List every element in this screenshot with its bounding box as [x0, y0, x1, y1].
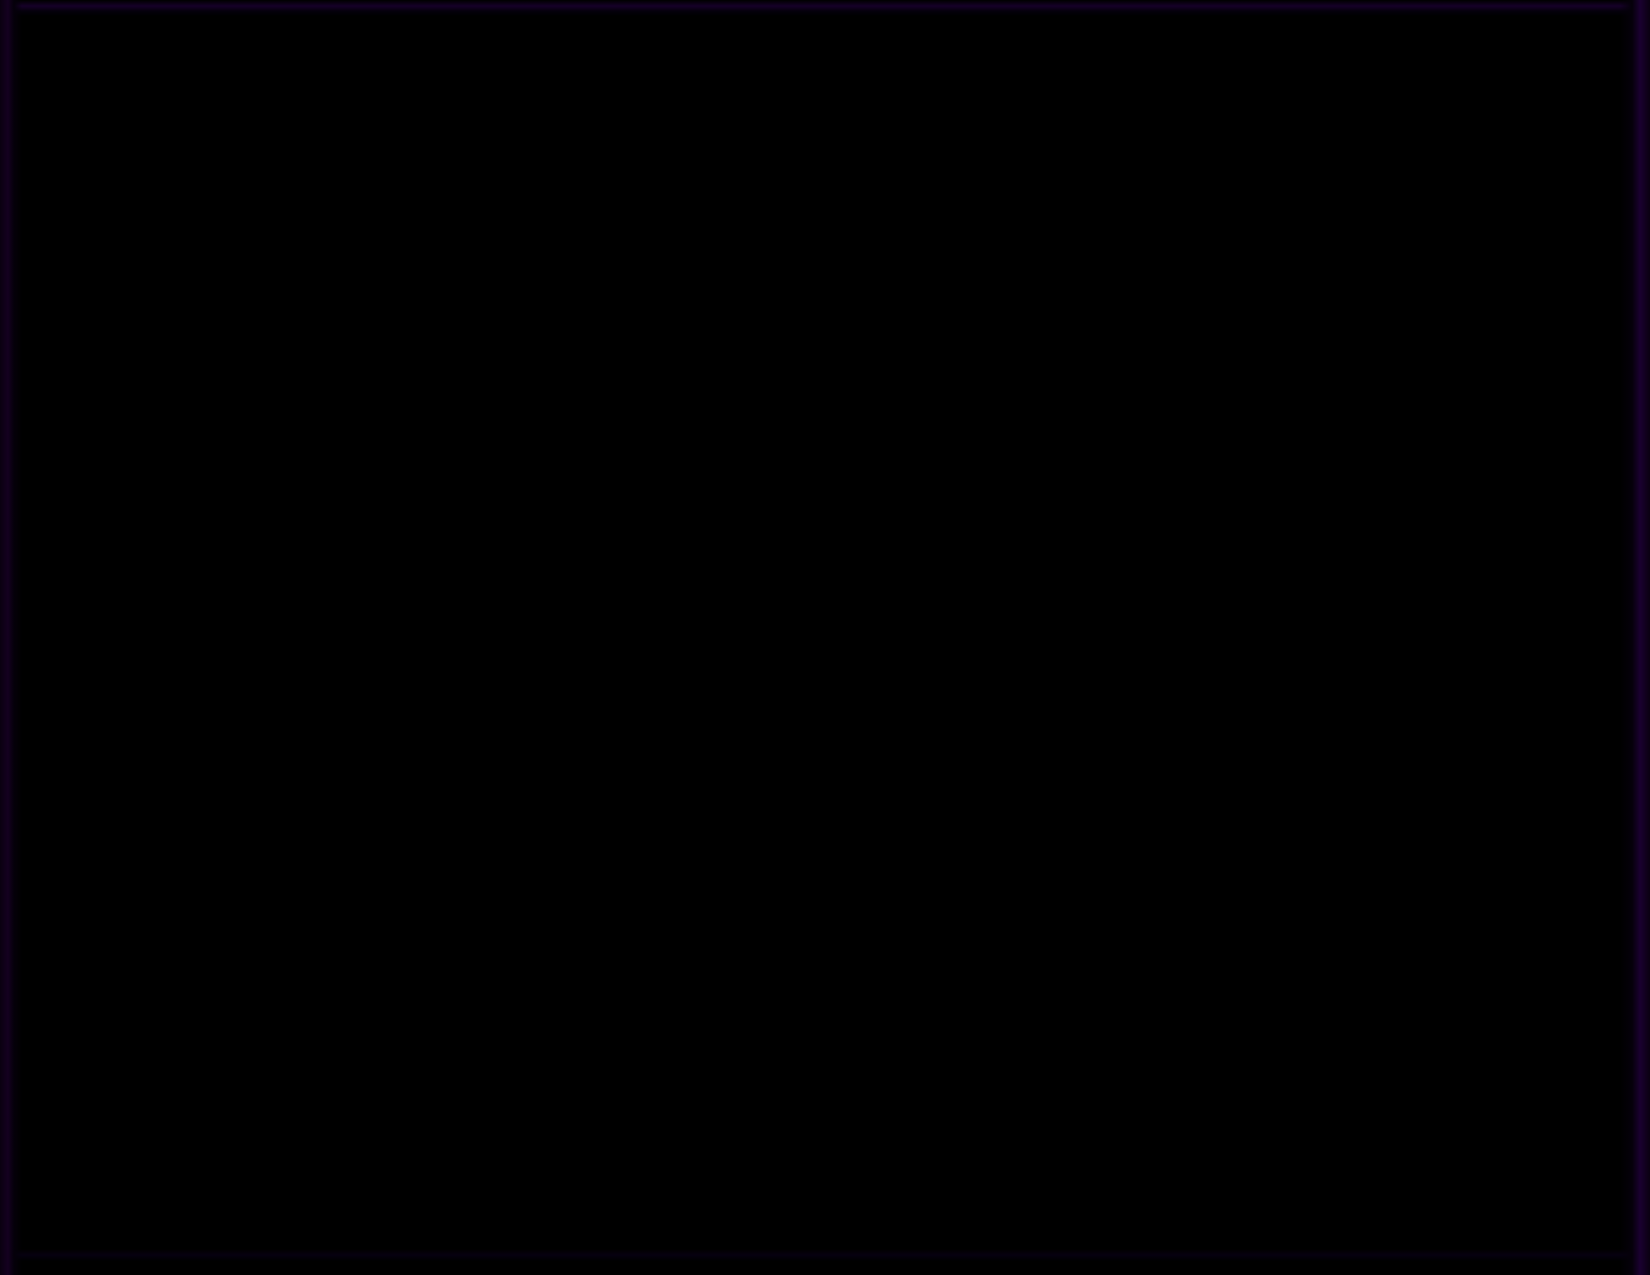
- slide-canvas: “The wind blows where it wishes and you …: [14, 9, 1634, 1258]
- registered-trademark-icon: ®: [1445, 569, 1470, 607]
- attribution-close-paren: ): [1470, 557, 1492, 631]
- text-layer: “The wind blows where it wishes and you …: [14, 9, 1634, 1258]
- scripture-attribution: — John 3:8 (NASB®): [86, 554, 1492, 634]
- attribution-reference: — John 3:8 (NASB: [862, 557, 1445, 631]
- scripture-slide: “The wind blows where it wishes and you …: [0, 0, 1650, 1275]
- scripture-quote-text: “The wind blows where it wishes and you …: [86, 117, 1456, 557]
